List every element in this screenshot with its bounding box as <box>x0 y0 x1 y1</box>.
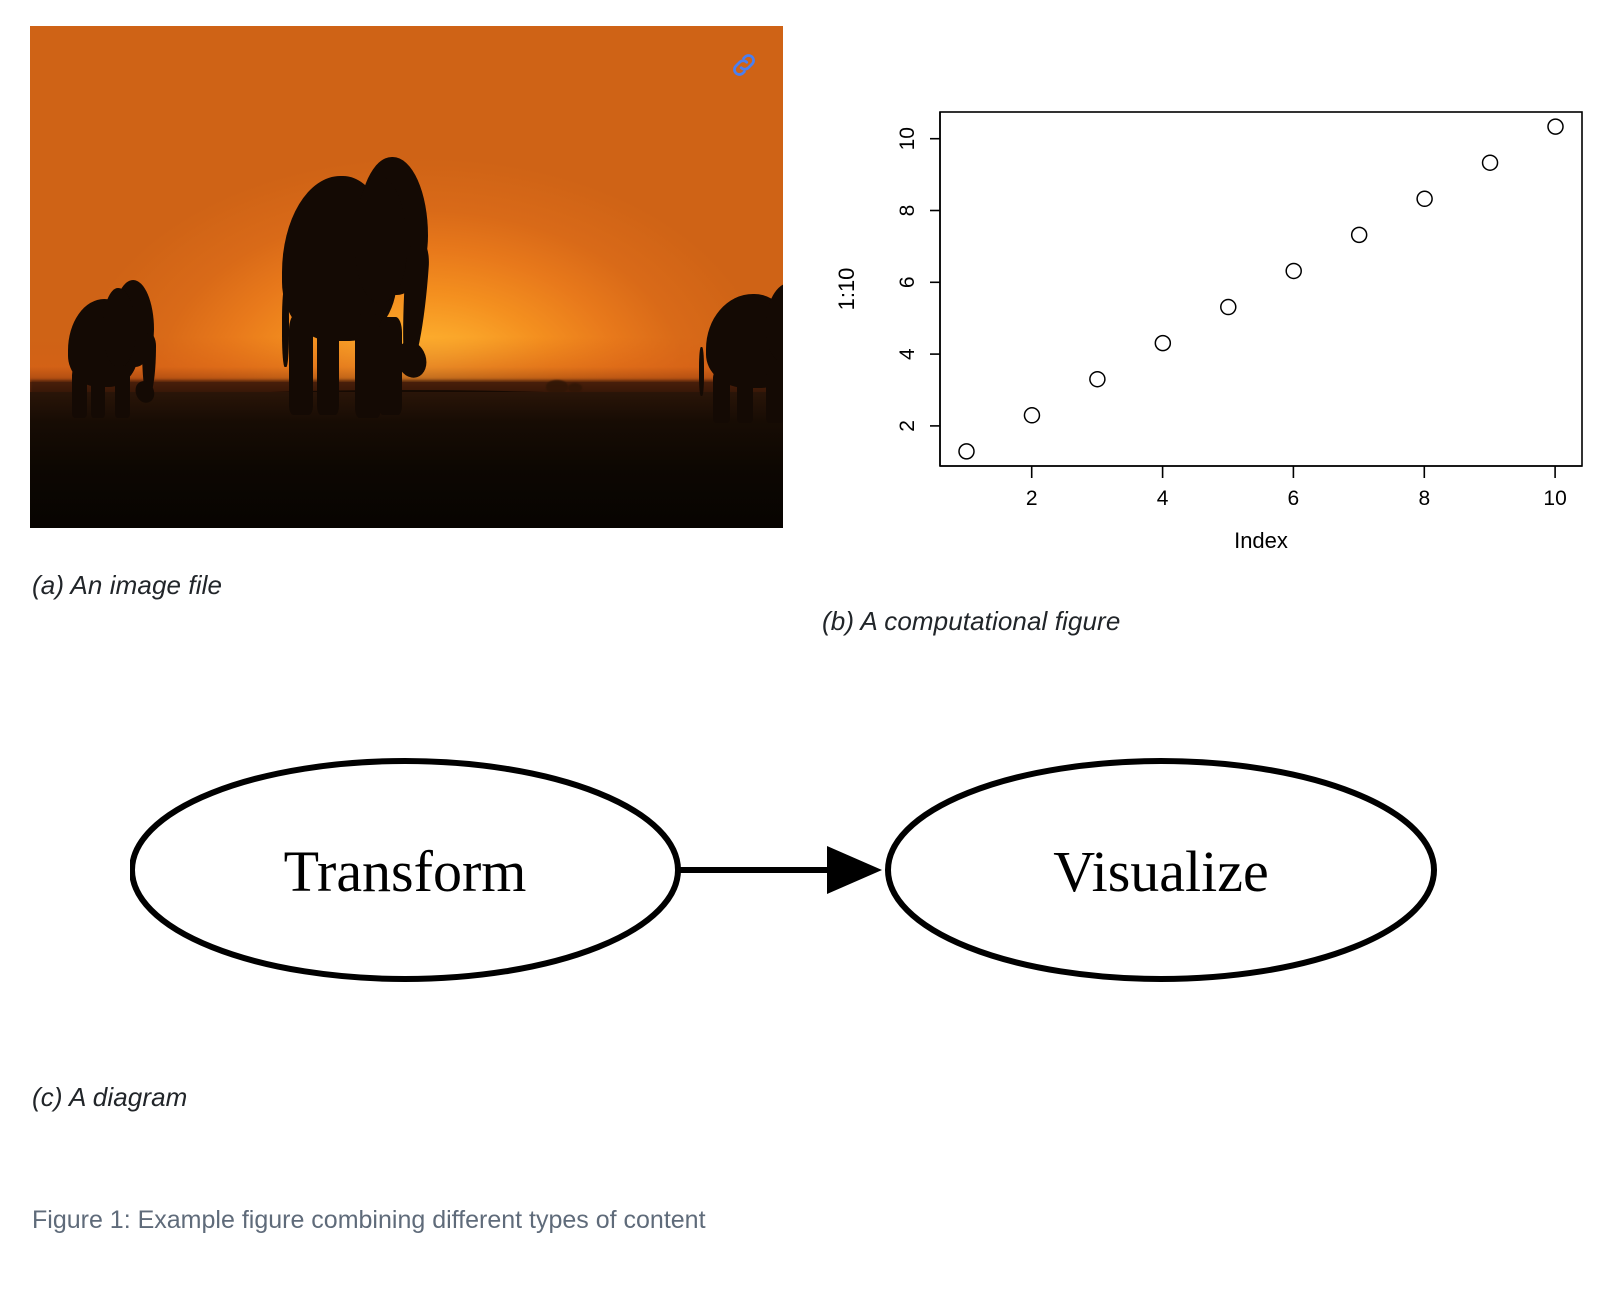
subcaption-b: (b) A computational figure <box>822 606 1120 637</box>
elephant-sunset-photo <box>30 26 783 528</box>
node-visualize[interactable]: Visualize <box>888 761 1434 979</box>
node-transform[interactable]: Transform <box>132 761 678 979</box>
y-tick-label: 8 <box>896 205 919 217</box>
y-tick-label: 10 <box>896 127 919 150</box>
distant-tree-icon <box>546 380 568 393</box>
subcaption-a: (a) An image file <box>32 570 222 601</box>
scatter-plot: 2 4 6 8 10 1:10 2 4 6 8 10 <box>820 92 1602 554</box>
link-icon[interactable] <box>727 48 761 82</box>
arrowhead-icon <box>827 846 882 894</box>
elephant-silhouette-left <box>68 277 166 418</box>
panel-computational-figure: 2 4 6 8 10 1:10 2 4 6 8 10 <box>820 92 1602 554</box>
y-axis-label: 1:10 <box>834 268 859 311</box>
x-tick-label: 8 <box>1418 487 1430 510</box>
transform-visualize-diagram: Transform Visualize <box>130 735 1470 1035</box>
x-axis <box>940 466 1582 478</box>
x-tick-label: 4 <box>1157 487 1169 510</box>
subcaption-c: (c) A diagram <box>32 1082 187 1113</box>
elephant-silhouette-right <box>696 277 783 423</box>
x-axis-label: Index <box>1234 528 1288 553</box>
y-axis <box>930 112 940 466</box>
figure-caption: Figure 1: Example figure combining diffe… <box>32 1206 706 1235</box>
y-tick-label: 4 <box>896 348 919 360</box>
x-tick-label: 6 <box>1288 487 1300 510</box>
x-tick-label: 2 <box>1026 487 1038 510</box>
x-tick-labels: 2 4 6 8 10 <box>1026 487 1567 510</box>
figure-page: (a) An image file 2 4 6 8 10 1:10 <box>0 0 1622 1290</box>
x-tick-label: 10 <box>1543 487 1566 510</box>
plot-box <box>940 112 1582 466</box>
y-tick-label: 2 <box>896 420 919 432</box>
elephant-silhouette-center <box>282 149 455 415</box>
node-label-visualize: Visualize <box>1053 839 1269 904</box>
edge-transform-to-visualize <box>679 846 882 894</box>
panel-image-file <box>30 26 783 528</box>
panel-diagram: Transform Visualize <box>130 735 1470 1035</box>
y-tick-label: 6 <box>896 276 919 288</box>
y-tick-labels: 2 4 6 8 10 <box>896 127 919 432</box>
node-label-transform: Transform <box>284 839 527 904</box>
